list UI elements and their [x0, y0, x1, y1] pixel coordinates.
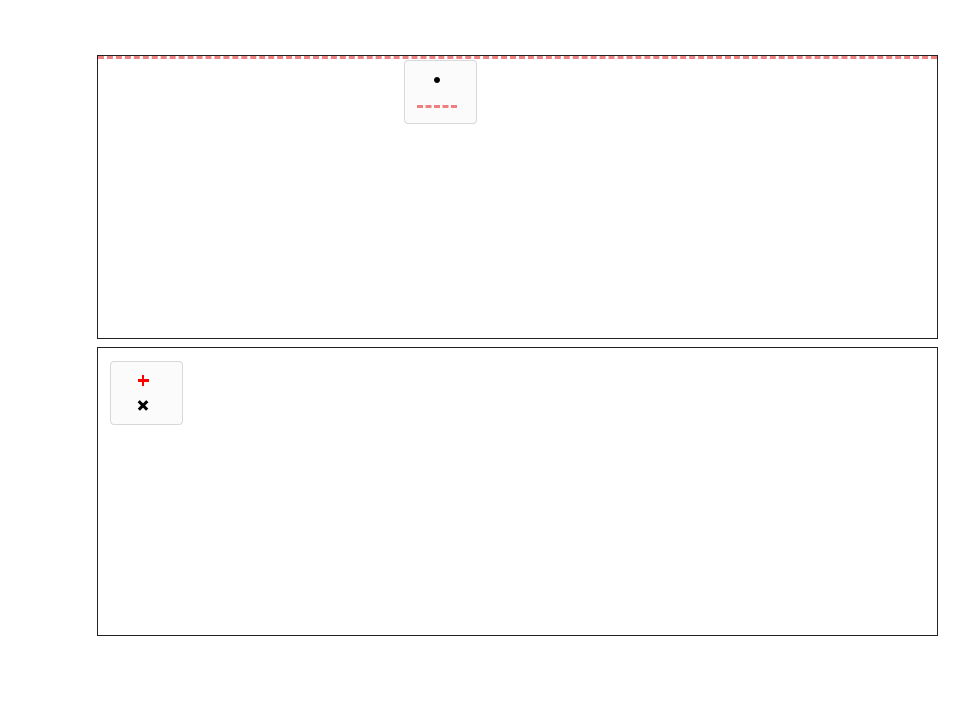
bottom-panel-plot-area	[98, 348, 937, 635]
threshold-line	[98, 56, 937, 59]
dot-marker-icon	[414, 69, 460, 91]
bottom-panel-legend[interactable]	[110, 361, 183, 425]
top-panel-plot-area	[98, 56, 937, 338]
cross-marker-icon	[120, 395, 166, 417]
dashed-line-icon	[414, 94, 460, 116]
top-panel-legend[interactable]	[404, 60, 477, 124]
bottom-panel-axes	[97, 347, 938, 636]
legend-item-matched-stars[interactable]	[120, 368, 170, 393]
plus-marker-icon	[120, 370, 166, 392]
figure-canvas	[0, 0, 960, 720]
legend-item-threshold[interactable]	[414, 92, 464, 117]
legend-item-measurements[interactable]	[414, 67, 464, 92]
top-panel-axes	[97, 55, 938, 339]
legend-item-predicted-stars[interactable]	[120, 393, 170, 418]
